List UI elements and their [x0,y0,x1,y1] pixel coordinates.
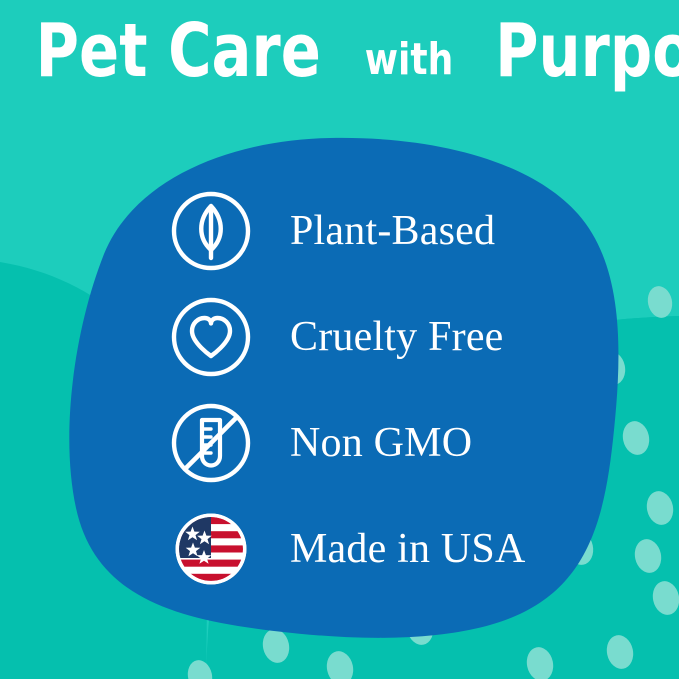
benefit-label-non-gmo: Non GMO [290,422,472,464]
leaf-circle-icon [168,188,254,274]
headline-part1: Pet Care [36,14,321,88]
benefit-label-made-in-usa: Made in USA [290,528,526,570]
benefit-label-cruelty-free: Cruelty Free [290,316,504,358]
headline-part3: Purpose [495,14,679,88]
headline-part2: with [364,38,453,82]
promo-graphic: Pet Care with Purpose ® Plant-Based [0,0,679,679]
page-title: Pet Care with Purpose ® [0,14,679,88]
usa-flag-circle-icon [168,506,254,592]
benefit-row-plant-based: Plant-Based [168,178,588,284]
heart-circle-icon [168,294,254,380]
benefit-row-cruelty-free: Cruelty Free [168,284,588,390]
benefit-label-plant-based: Plant-Based [290,210,495,252]
no-test-tube-icon [168,400,254,486]
benefit-row-made-in-usa: Made in USA [168,496,588,602]
benefit-row-non-gmo: Non GMO [168,390,588,496]
benefit-list: Plant-Based Cruelty Free [168,178,588,602]
